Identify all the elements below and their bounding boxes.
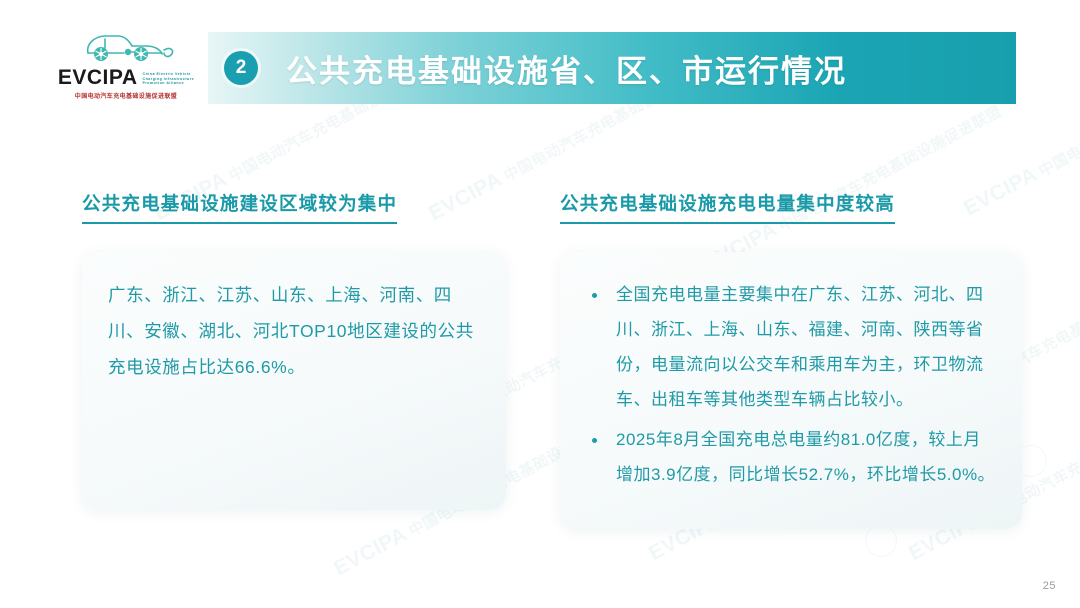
right-bullet-list: 全国充电电量主要集中在广东、江苏、河北、四川、浙江、上海、山东、福建、河南、陕西… (586, 278, 996, 493)
page-title: 公共充电基础设施省、区、市运行情况 (286, 46, 847, 91)
section-number-badge: 2 (224, 51, 258, 85)
evcipa-logo: EVCIPA China Electric Vehicle Charging I… (62, 30, 190, 108)
right-column: 公共充电基础设施充电电量集中度较高 全国充电电量主要集中在广东、江苏、河北、四川… (560, 130, 1025, 529)
logo-wordmark-text: EVCIPA (58, 67, 138, 88)
left-section-heading: 公共充电基础设施建设区域较为集中 (82, 190, 397, 224)
logo-chinese-name: 中国电动汽车充电基础设施促进联盟 (75, 91, 177, 100)
list-item: 2025年8月全国充电总电量约81.0亿度，较上月增加3.9亿度，同比增长52.… (586, 423, 996, 493)
slide-content: 公共充电基础设施建设区域较为集中 广东、浙江、江苏、山东、上海、河南、四川、安徽… (0, 130, 1080, 608)
logo-english-tagline: China Electric Vehicle Charging Infrastr… (143, 72, 195, 86)
list-item: 全国充电电量主要集中在广东、江苏、河北、四川、浙江、上海、山东、福建、河南、陕西… (586, 278, 996, 417)
right-section-heading: 公共充电基础设施充电电量集中度较高 (560, 190, 895, 224)
left-paragraph: 广东、浙江、江苏、山东、上海、河南、四川、安徽、湖北、河北TOP10地区建设的公… (108, 278, 480, 386)
page-number: 25 (1043, 580, 1056, 592)
logo-en-line-3: Promotion Alliance (143, 81, 195, 86)
slide-header: EVCIPA China Electric Vehicle Charging I… (0, 0, 1080, 130)
right-content-card: 全国充电电量主要集中在广东、江苏、河北、四川、浙江、上海、山东、福建、河南、陕西… (560, 252, 1022, 529)
ev-charging-car-icon (72, 30, 180, 66)
logo-wordmark: EVCIPA China Electric Vehicle Charging I… (58, 67, 194, 88)
title-bar: 2 公共充电基础设施省、区、市运行情况 (208, 32, 1016, 104)
left-content-card: 广东、浙江、江苏、山东、上海、河南、四川、安徽、湖北、河北TOP10地区建设的公… (82, 252, 506, 510)
left-column: 公共充电基础设施建设区域较为集中 广东、浙江、江苏、山东、上海、河南、四川、安徽… (82, 130, 512, 510)
slide-root: EVCIPA中国电动汽车充电基础设施促进联盟 EVCIPA中国电动汽车充电基础设… (0, 0, 1080, 608)
